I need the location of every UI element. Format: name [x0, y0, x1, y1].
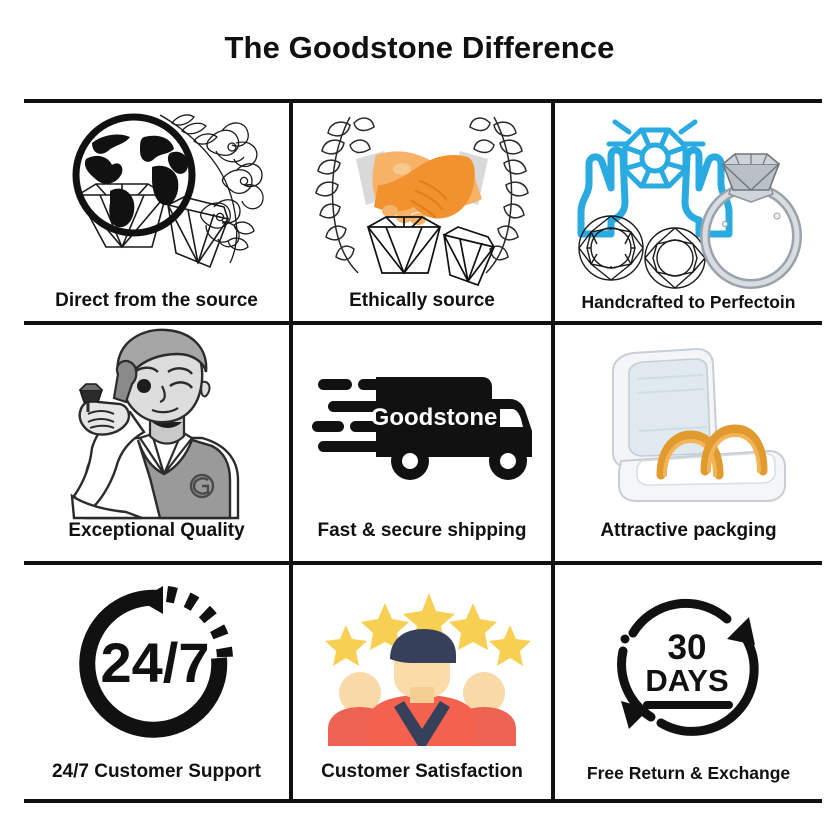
delivery-truck-icon: Goodstone: [293, 325, 551, 521]
globe-diamond-flowers-icon: [24, 103, 289, 291]
truck-brand-text: Goodstone: [371, 404, 498, 431]
infographic-page: The Goodstone Difference: [0, 0, 839, 839]
return-days-label: DAYS: [645, 663, 728, 698]
feature-cell-free-return: 30 DAYS Free Return & Exchange: [555, 565, 822, 795]
five-star-people-icon: [293, 565, 551, 762]
feature-label: Direct from the source: [55, 291, 258, 317]
feature-label: 24/7 Customer Support: [52, 762, 261, 795]
feature-cell-direct-from-source: Direct from the source: [24, 103, 289, 317]
support-hours-text: 24/7: [100, 631, 209, 694]
feature-cell-fast-shipping: Goodstone Fast & secure shipping: [293, 325, 551, 557]
feature-label: Exceptional Quality: [68, 521, 244, 557]
feature-cell-handcrafted: Handcrafted to Perfectoin: [555, 103, 822, 317]
hands-holding-gem-ring-icon: [555, 103, 822, 293]
thirty-days-return-icon: 30 DAYS: [555, 565, 822, 764]
feature-cell-exceptional-quality: Exceptional Quality: [24, 325, 289, 557]
grid-rule-bottom: [24, 799, 822, 803]
feature-cell-support: 24/7 24/7 Customer Support: [24, 565, 289, 795]
ring-box-icon: [555, 325, 822, 521]
return-days-number: 30: [667, 628, 706, 667]
feature-label: Customer Satisfaction: [321, 762, 523, 795]
jeweler-loupe-icon: [24, 325, 289, 521]
feature-cell-satisfaction: Customer Satisfaction: [293, 565, 551, 795]
feature-label: Handcrafted to Perfectoin: [582, 293, 796, 317]
feature-cell-ethically-source: Ethically source: [293, 103, 551, 317]
handshake-laurel-diamonds-icon: [293, 103, 551, 291]
feature-label: Fast & secure shipping: [317, 521, 526, 557]
page-title: The Goodstone Difference: [0, 30, 839, 66]
clock-247-icon: 24/7: [24, 565, 289, 762]
feature-label: Attractive packging: [600, 521, 776, 557]
feature-label: Free Return & Exchange: [587, 764, 790, 795]
feature-label: Ethically source: [349, 291, 495, 317]
feature-cell-attractive-packaging: Attractive packging: [555, 325, 822, 557]
